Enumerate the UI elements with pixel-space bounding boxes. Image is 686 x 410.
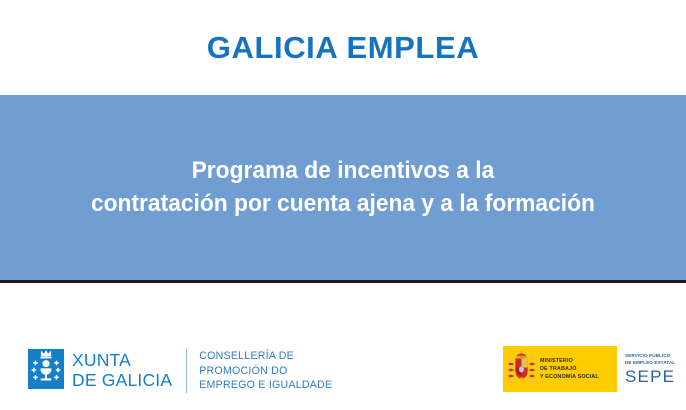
conselleria-name: CONSELLERÍA DE PROMOCIÓN DO EMPREGO E IG…	[199, 349, 332, 393]
galicia-coat-of-arms-emblem	[28, 349, 64, 389]
conselleria-line-2: PROMOCIÓN DO	[199, 364, 332, 379]
xunta-wordmark: XUNTA DE GALICIA	[72, 349, 172, 393]
sepe-subtitle-line-1: SERVICIO PÚBLICO	[625, 353, 670, 360]
xunta-de-galicia-logo: XUNTA DE GALICIA CONSELLERÍA DE PROMOCIÓ…	[28, 349, 332, 393]
sepe-logo: SERVICIO PÚBLICO DE EMPLEO ESTATAL SEPE	[617, 346, 686, 392]
ministerio-line-3: Y ECONOMÍA SOCIAL	[540, 373, 599, 381]
chalice-and-crosses-icon	[28, 349, 64, 389]
conselleria-line-3: EMPREGO E IGUALDADE	[199, 378, 332, 393]
program-title-band: Programa de incentivos a la contratación…	[0, 95, 686, 283]
logo-divider	[186, 349, 187, 393]
page-title: GALICIA EMPLEA	[207, 32, 479, 63]
conselleria-line-1: CONSELLERÍA DE	[199, 349, 332, 364]
xunta-wordmark-line-2: DE GALICIA	[72, 371, 172, 391]
sepe-acronym: SEPE	[625, 368, 675, 385]
ministerio-line-1: MINISTERIO	[540, 357, 599, 365]
gobierno-de-espana-logo-group: MINISTERIO DE TRABAJO Y ECONOMÍA SOCIAL …	[503, 346, 686, 392]
slide-canvas: GALICIA EMPLEA Programa de incentivos a …	[0, 0, 686, 410]
ministerio-line-2: DE TRABAJO	[540, 365, 599, 373]
program-title-line-1: Programa de incentivos a la	[192, 157, 495, 184]
ministerio-name: MINISTERIO DE TRABAJO Y ECONOMÍA SOCIAL	[540, 357, 599, 381]
xunta-wordmark-line-1: XUNTA	[72, 351, 172, 371]
sepe-subtitle-line-2: DE EMPLEO ESTATAL	[625, 360, 675, 367]
spain-coat-of-arms-icon	[508, 351, 535, 387]
ministerio-logo: MINISTERIO DE TRABAJO Y ECONOMÍA SOCIAL	[503, 346, 617, 392]
header-banner: GALICIA EMPLEA	[0, 0, 686, 95]
program-title: Programa de incentivos a la contratación…	[76, 155, 610, 220]
footer: XUNTA DE GALICIA CONSELLERÍA DE PROMOCIÓ…	[0, 283, 686, 410]
program-title-line-2: contratación por cuenta ajena y a la for…	[91, 188, 595, 220]
